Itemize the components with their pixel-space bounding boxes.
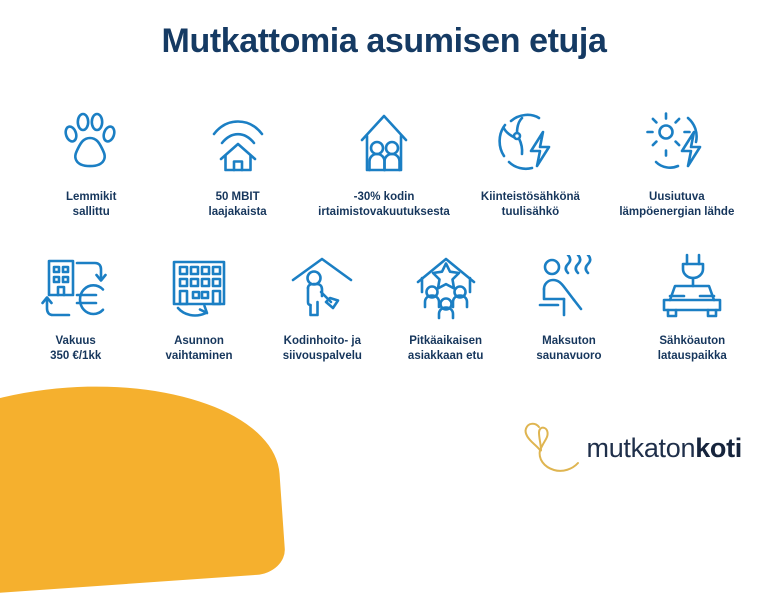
- benefit-item-broadband: 50 MBIT laajakaista: [164, 104, 310, 220]
- benefit-label: 50 MBIT laajakaista: [209, 190, 267, 220]
- heart-swoosh-icon: [517, 418, 583, 478]
- logo-text-light: mutkaton: [587, 433, 696, 463]
- benefit-item-wind-power: Kiinteistösähkönä tuulisähkö: [457, 104, 603, 220]
- infographic-canvas: Mutkattomia asumisen etuja Lemmikit sall…: [0, 0, 768, 512]
- benefit-label: Pitkäaikaisen asiakkaan etu: [408, 334, 483, 364]
- sauna-person-heat-icon: [536, 248, 602, 326]
- paw-print-icon: [63, 104, 119, 182]
- sun-bolt-icon: [642, 104, 712, 182]
- benefit-item-cleaning-service: Kodinhoito- ja siivouspalvelu: [261, 248, 384, 364]
- wind-turbine-bolt-icon: [495, 104, 565, 182]
- benefit-label: Kodinhoito- ja siivouspalvelu: [283, 334, 362, 364]
- benefit-item-apartment-swap: Asunnon vaihtaminen: [137, 248, 260, 364]
- benefits-row-2: Vakuus 350 €/1kk Asunnon vaihtaminen: [0, 248, 768, 364]
- benefit-label: Kiinteistösähkönä tuulisähkö: [481, 190, 580, 220]
- logo-wordmark: mutkatonkoti: [587, 433, 742, 464]
- cleaning-person-roof-icon: [287, 248, 357, 326]
- apartment-swap-icon: [164, 248, 234, 326]
- building-euro-exchange-icon: [39, 248, 113, 326]
- benefit-item-deposit: Vakuus 350 €/1kk: [14, 248, 137, 364]
- benefit-label: Uusiutuva lämpöenergian lähde: [619, 190, 734, 220]
- house-two-people-icon: [350, 104, 418, 182]
- benefit-label: Maksuton saunavuoro: [536, 334, 601, 364]
- benefit-label: Vakuus 350 €/1kk: [50, 334, 101, 364]
- benefit-item-ev-charging: Sähköauton latauspaikka: [631, 248, 754, 364]
- benefit-item-pets: Lemmikit sallittu: [18, 104, 164, 220]
- benefit-label: -30% kodin irtaimistovakuutuksesta: [318, 190, 450, 220]
- benefit-label: Lemmikit sallittu: [66, 190, 117, 220]
- benefit-label: Asunnon vaihtaminen: [165, 334, 232, 364]
- electric-car-plug-icon: [656, 248, 728, 326]
- benefits-row-1: Lemmikit sallittu 50 MBIT laajakaista: [0, 104, 768, 220]
- benefit-item-renewable-heat: Uusiutuva lämpöenergian lähde: [604, 104, 750, 220]
- house-star-family-icon: [410, 248, 482, 326]
- benefit-item-insurance-discount: -30% kodin irtaimistovakuutuksesta: [311, 104, 457, 220]
- logo-text-bold: koti: [695, 433, 742, 463]
- benefit-item-sauna: Maksuton saunavuoro: [507, 248, 630, 364]
- benefit-item-loyalty: Pitkäaikaisen asiakkaan etu: [384, 248, 507, 364]
- brand-logo: mutkatonkoti: [517, 418, 742, 478]
- wifi-house-icon: [208, 104, 268, 182]
- decorative-orange-blob: [0, 373, 286, 603]
- page-title: Mutkattomia asumisen etuja: [0, 22, 768, 61]
- benefit-label: Sähköauton latauspaikka: [658, 334, 727, 364]
